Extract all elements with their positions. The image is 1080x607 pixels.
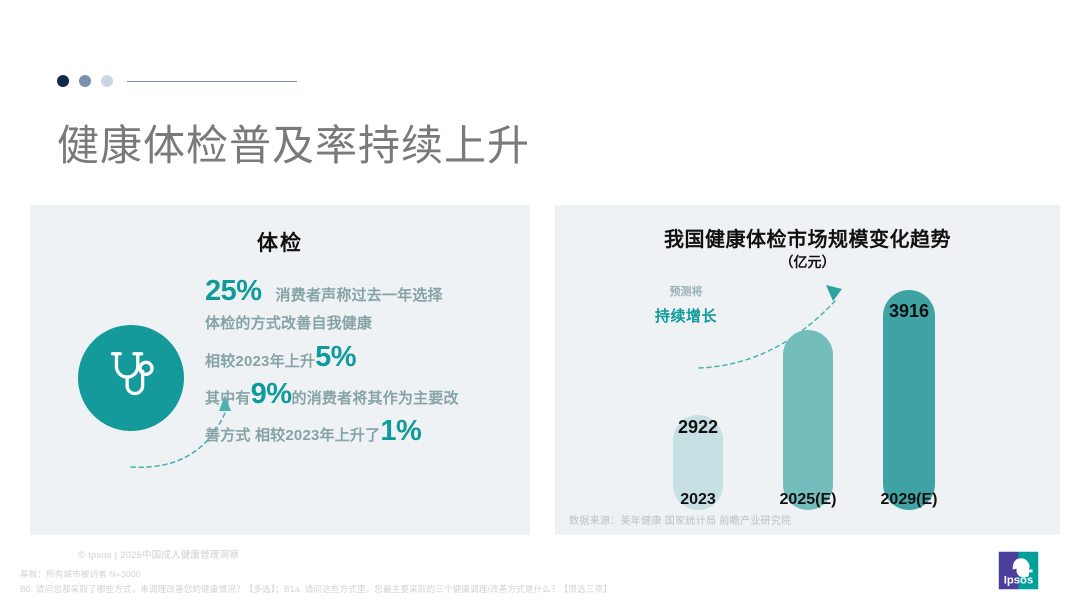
right-panel: 我国健康体检市场规模变化趋势 （亿元） 预测将 持续增长 2922 2023 2… [555, 205, 1060, 535]
statement-4-value: 9% [251, 380, 292, 409]
statement-5-value: 1% [380, 417, 421, 446]
left-panel-title: 体检 [30, 227, 530, 257]
statement-3-text: 相较2023年上升 [205, 354, 315, 369]
statement-1-text: 消费者声称过去一年选择 [276, 288, 443, 303]
statement-4-text-before: 其中有 [205, 391, 251, 406]
svg-text:Ipsos: Ipsos [1004, 575, 1033, 587]
bar-category-2023: 2023 [643, 491, 753, 509]
dot-3-icon [101, 75, 113, 87]
footer-question-text: B0. 请问您都采取了哪些方式，来调理改善您的健康情况？【多选】；B1a. 请问… [20, 583, 612, 595]
bar-value-2029e: 3916 [874, 301, 944, 322]
stethoscope-icon [100, 347, 162, 409]
statement-2-text: 体检的方式改善自我健康 [205, 316, 372, 331]
statement-4-text-after: 的消费者将其作为主要改 [292, 391, 459, 406]
left-statements: 25% 消费者声称过去一年选择 体检的方式改善自我健康 相较2023年上升 5%… [205, 277, 515, 456]
slide: 健康体检普及率持续上升 体检 25% [0, 0, 1080, 607]
statement-5-text: 善方式 相较2023年上升了 [205, 428, 380, 443]
chart-source: 数据来源：美年健康 国家统计局 前瞻产业研究院 [569, 512, 791, 527]
footer-base-text: 基数：所有城市被访者 N=3000 [20, 568, 141, 580]
stethoscope-badge [78, 325, 184, 431]
bar-2029e [883, 290, 935, 510]
statement-line-5: 善方式 相较2023年上升了 1% [205, 417, 515, 446]
statement-line-4: 其中有 9% 的消费者将其作为主要改 [205, 380, 515, 409]
header-rule [127, 81, 297, 82]
dot-1-icon [57, 75, 69, 87]
statement-line-1: 25% 消费者声称过去一年选择 [205, 277, 515, 306]
statement-1-value: 25% [205, 277, 262, 306]
page-title: 健康体检普及率持续上升 [57, 112, 530, 173]
dot-2-icon [79, 75, 91, 87]
bar-2025e [783, 330, 833, 510]
copyright-text: © Ipsos | 2025中国成人健康管理洞察 [78, 547, 239, 561]
ipsos-logo: Ipsos [995, 547, 1042, 594]
bar-value-2023: 2922 [663, 417, 733, 438]
bar-category-2025e: 2025(E) [753, 491, 863, 509]
statement-line-2: 体检的方式改善自我健康 [205, 316, 515, 331]
header-dots [57, 75, 113, 87]
chart-plot: 2922 2023 2025(E) 3916 2029(E) [555, 205, 1060, 535]
left-panel: 体检 25% 消费者声称过去一年选择 [30, 205, 530, 535]
statement-line-3: 相较2023年上升 5% [205, 343, 515, 372]
statement-3-value: 5% [315, 343, 356, 372]
bar-category-2029e: 2029(E) [854, 491, 964, 509]
